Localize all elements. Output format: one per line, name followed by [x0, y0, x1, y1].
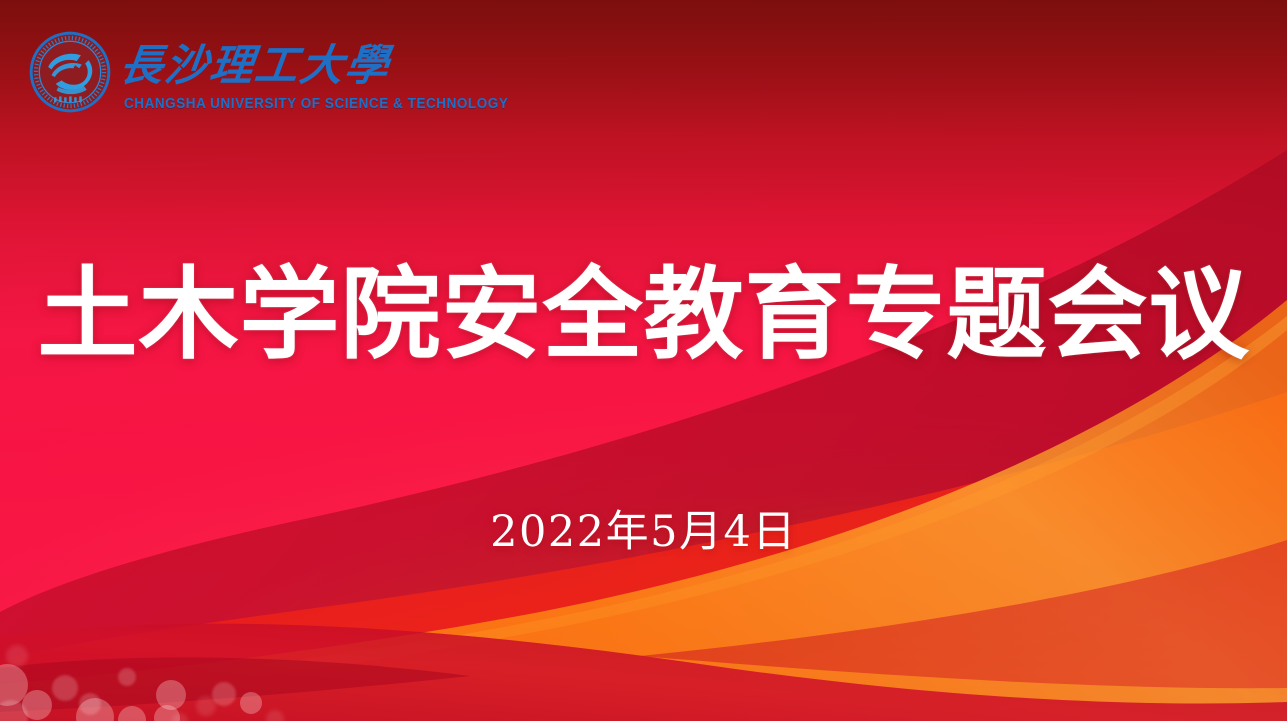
logo-wordmark: 長沙理工大學 CHANGSHA UNIVERSITY OF SCIENCE & …	[124, 33, 537, 112]
page-title: 土木学院安全教育专题会议	[0, 258, 1287, 370]
university-chinese-name: 長沙理工大學	[124, 40, 396, 91]
university-logo: 長沙理工大學 CHANGSHA UNIVERSITY OF SCIENCE & …	[28, 30, 537, 114]
university-chinese-name-icon: 長沙理工大學	[124, 33, 404, 95]
meeting-date: 2022年5月4日	[0, 497, 1287, 559]
university-seal-icon	[28, 30, 112, 114]
university-english-name: CHANGSHA UNIVERSITY OF SCIENCE & TECHNOL…	[124, 96, 508, 112]
presentation-slide: 長沙理工大學 CHANGSHA UNIVERSITY OF SCIENCE & …	[0, 0, 1287, 721]
